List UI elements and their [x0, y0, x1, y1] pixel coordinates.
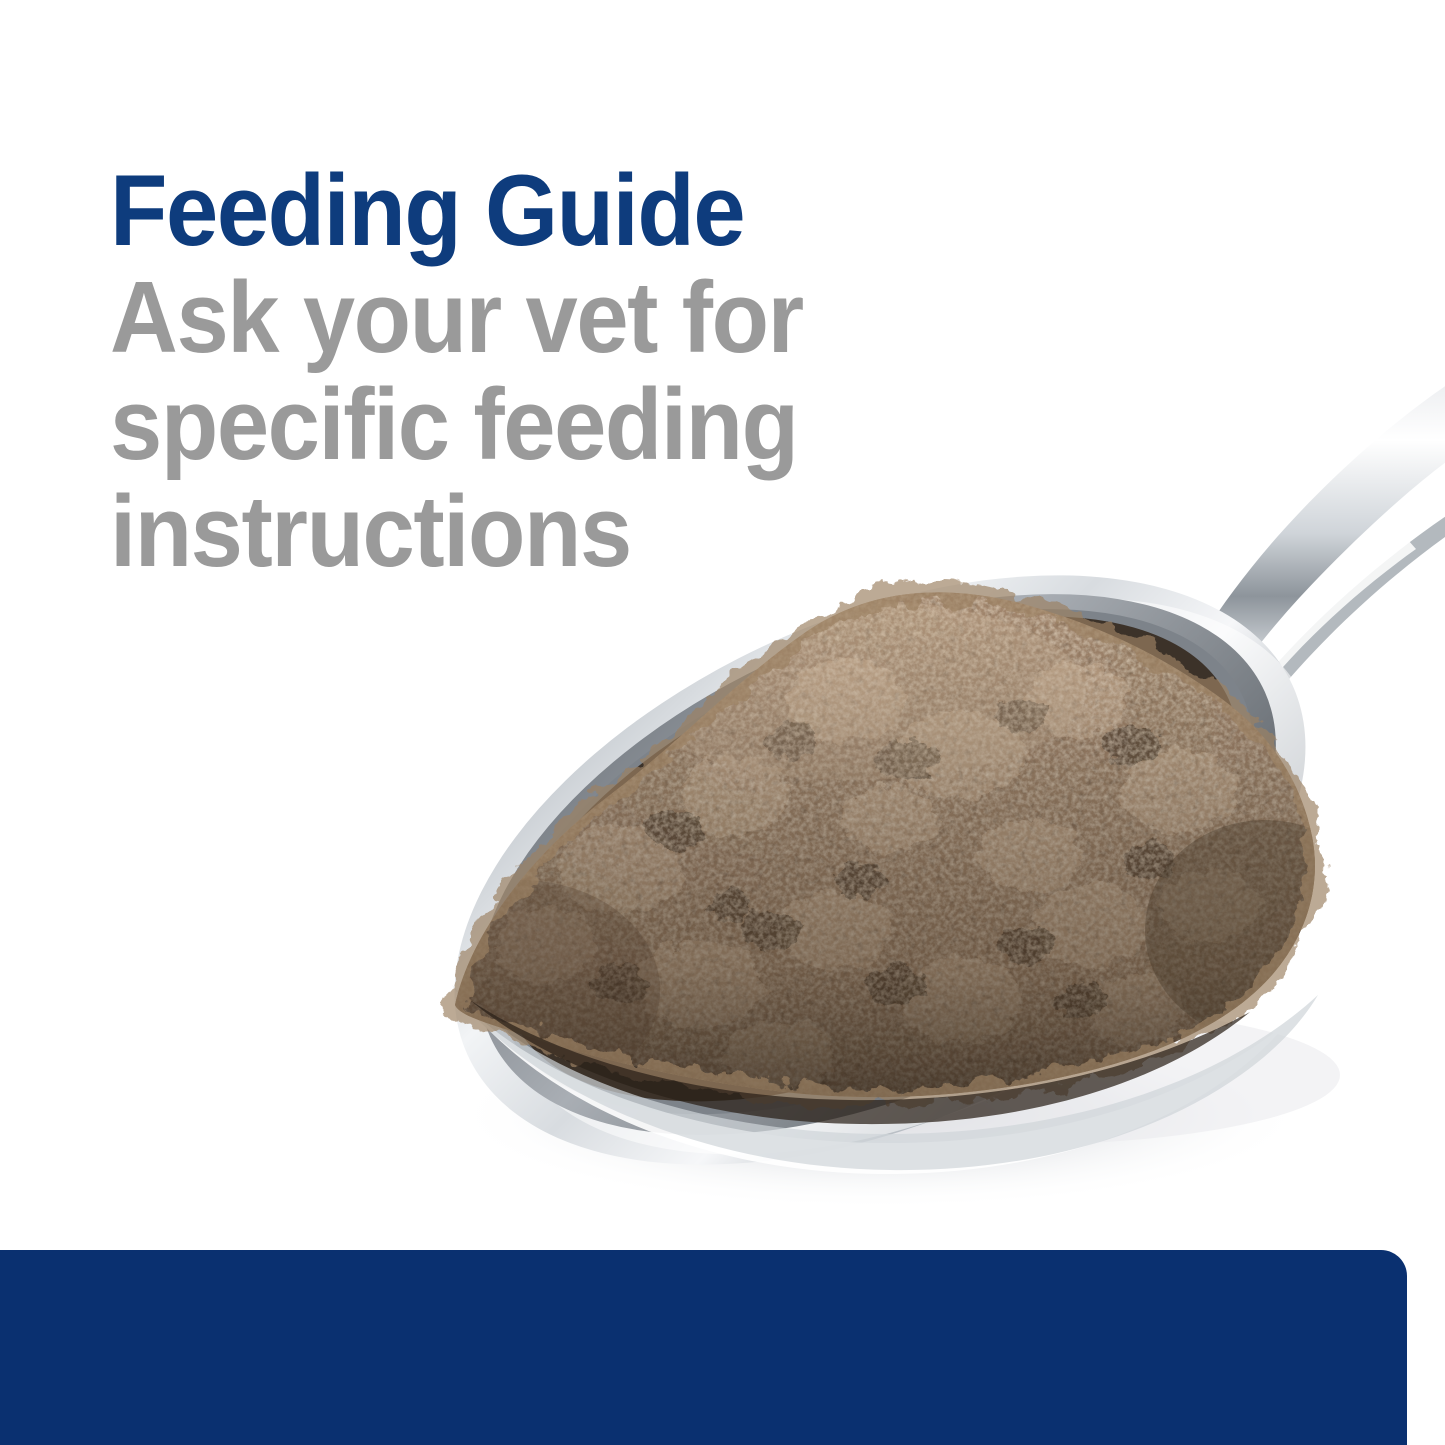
food-spoon-seam: [470, 1000, 1250, 1124]
feeding-guide-text-block: Feeding Guide Ask your vet for specific …: [110, 158, 940, 586]
spoon-handle: [1160, 370, 1445, 760]
spoon-shadow: [450, 1005, 1340, 1210]
subhead-line-2: specific feeding: [110, 372, 882, 479]
subhead-line-3: instructions: [110, 479, 882, 586]
pate-food-mound: [380, 560, 1385, 1140]
bottom-brand-band: [0, 1250, 1407, 1445]
food-crumb-edge: [455, 592, 1315, 1097]
feeding-guide-panel: Feeding Guide Ask your vet for specific …: [0, 0, 1445, 1445]
subhead-line-1: Ask your vet for: [110, 265, 882, 372]
page-title: Feeding Guide: [110, 158, 882, 265]
